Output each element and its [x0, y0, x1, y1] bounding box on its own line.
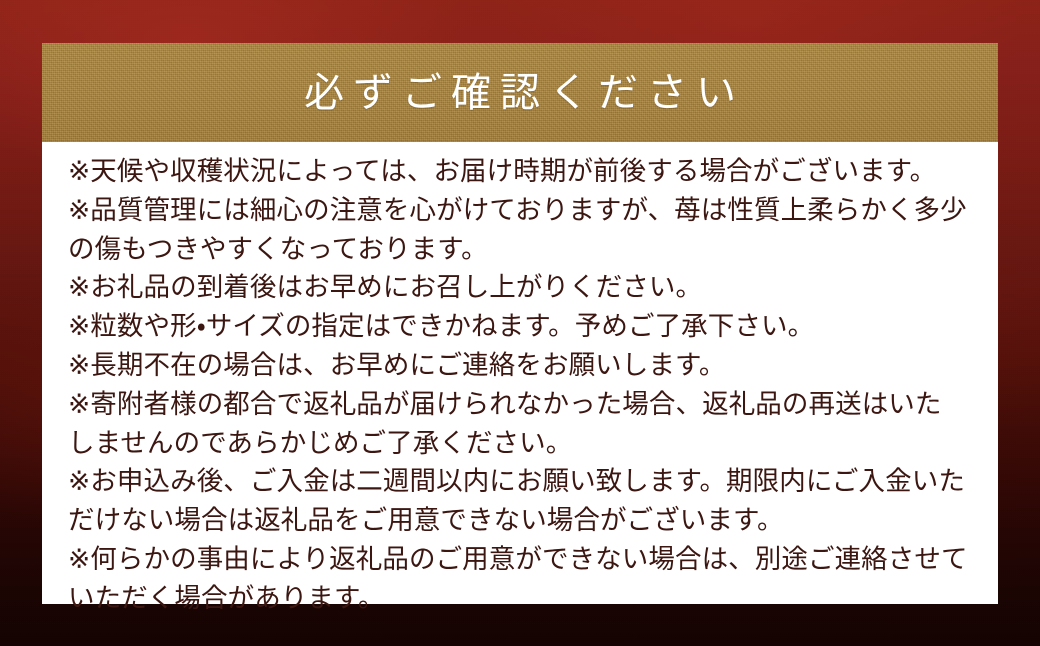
notice-line: ※天候や収穫状況によっては、お届け時期が前後する場合がございます。 [68, 152, 974, 191]
notice-line: ※お礼品の到着後はお早めにお召し上がりください。 [68, 268, 974, 307]
notice-card-header: 必ずご確認ください [42, 43, 998, 142]
poster-background: 必ずご確認ください ※天候や収穫状況によっては、お届け時期が前後する場合がござい… [0, 0, 1040, 646]
notice-line: ※粒数や形・サイズの指定はできかねます。予めご了承下さい。 [68, 307, 974, 346]
notice-line: だけない場合は返礼品をご用意できない場合がございます。 [68, 501, 974, 540]
notice-line: ※長期不在の場合は、お早めにご連絡をお願いします。 [68, 346, 974, 385]
notice-line: ※お申込み後、ご入金は二週間以内にお願い致します。期限内にご入金いた [68, 462, 974, 501]
notice-line: ※寄附者様の都合で返礼品が届けられなかった場合、返礼品の再送はいた [68, 385, 974, 424]
notice-card-body: ※天候や収穫状況によっては、お届け時期が前後する場合がございます。 ※品質管理に… [42, 142, 998, 618]
notice-card: 必ずご確認ください ※天候や収穫状況によっては、お届け時期が前後する場合がござい… [42, 43, 998, 604]
notice-line: の傷もつきやすくなっております。 [68, 230, 974, 269]
notice-line: しませんのであらかじめご了承ください。 [68, 424, 974, 463]
notice-card-title: 必ずご確認ください [295, 73, 745, 113]
notice-list: ※天候や収穫状況によっては、お届け時期が前後する場合がございます。 ※品質管理に… [68, 152, 974, 618]
notice-line: ※何らかの事由により返礼品のご用意ができない場合は、別途ご連絡させて [68, 540, 974, 579]
notice-line: いただく場合があります。 [68, 579, 974, 618]
notice-line: ※品質管理には細心の注意を心がけておりますが、苺は性質上柔らかく多少 [68, 191, 974, 230]
